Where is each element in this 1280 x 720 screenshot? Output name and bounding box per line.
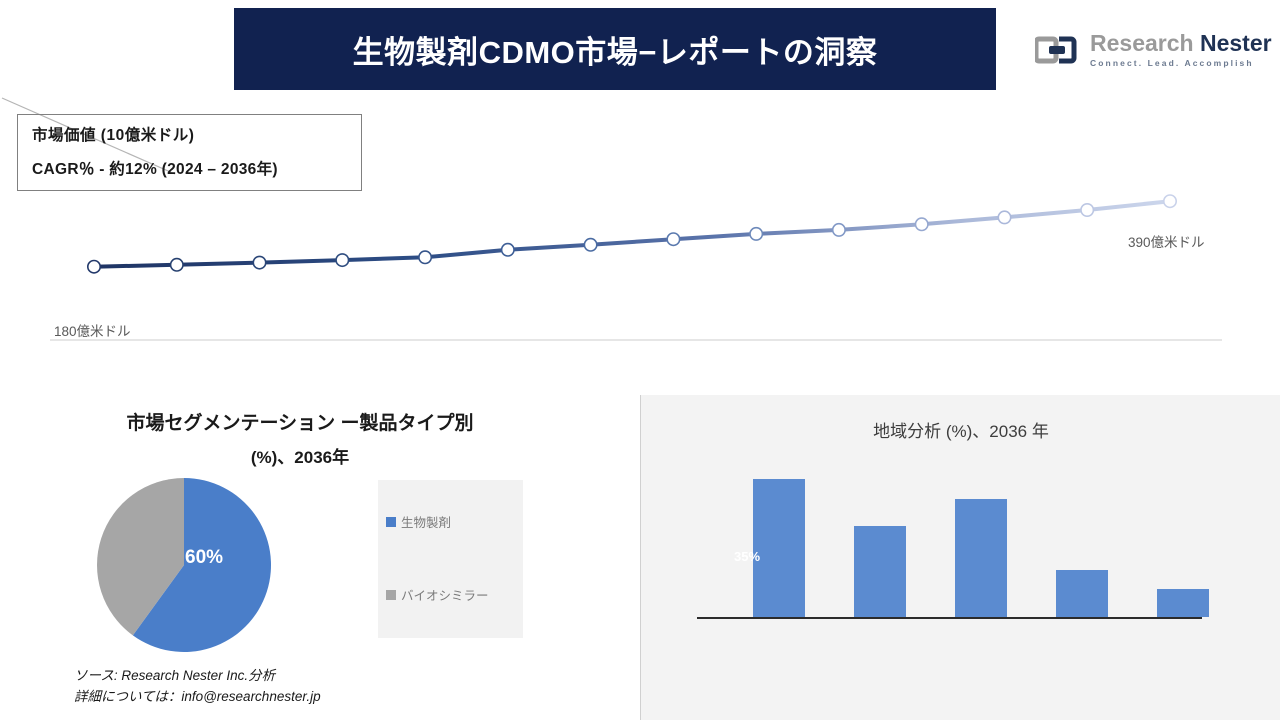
line-marker <box>750 228 762 240</box>
legend-swatch-biosimilars <box>386 590 396 600</box>
bar-value-label-north-america: 35% <box>734 549 760 564</box>
legend-item-biosimilars: バイオシミラー <box>386 585 489 604</box>
bar-chart-plot <box>697 467 1257 617</box>
line-marker <box>171 259 183 271</box>
bar-chart-title: 地域分析 (%)、2036 年 <box>641 417 1280 442</box>
bar-column <box>854 526 906 617</box>
bar-chart-baseline <box>697 617 1202 619</box>
source-note: ソース: Research Nester Inc.分析 詳細については：info… <box>74 666 321 708</box>
line-marker <box>833 224 845 236</box>
legend-swatch-biologics <box>386 517 396 527</box>
pie-title-line-1: 市場セグメンテーション ー製品タイプ別 <box>127 413 474 434</box>
pie-slice-value-label: 60% <box>185 547 223 569</box>
line-marker <box>667 233 679 245</box>
logo-text: Research Nester Connect. Lead. Accomplis… <box>1090 32 1272 68</box>
line-marker <box>253 256 265 268</box>
line-marker <box>1081 204 1093 216</box>
source-line-1: ソース: Research Nester Inc.分析 <box>74 666 321 687</box>
pie-chart-legend: 生物製剤 バイオシミラー <box>378 480 523 638</box>
bar-column <box>955 499 1007 617</box>
bar-column <box>1056 570 1108 617</box>
market-value-callout: 市場価値 (10億米ドル) CAGR％ - 約12% (2024 – 2036年… <box>17 114 362 191</box>
line-marker <box>1164 195 1176 207</box>
callout-line-2: CAGR％ - 約12% (2024 – 2036年) <box>32 157 349 179</box>
line-marker <box>336 254 348 266</box>
header-banner: 生物製剤CDMO市場−レポートの洞察 <box>234 8 996 90</box>
source-line-2: 詳細については：info@researchnester.jp <box>74 687 321 708</box>
logo-mark-icon <box>1035 32 1083 68</box>
bar-column <box>753 479 805 617</box>
pie-chart-title: 市場セグメンテーション ー製品タイプ別 (%)、2036年 <box>0 414 600 466</box>
page-title: 生物製剤CDMO市場−レポートの洞察 <box>353 27 878 72</box>
legend-label-biosimilars: バイオシミラー <box>401 585 489 604</box>
line-marker <box>584 239 596 251</box>
logo-name: Research Nester <box>1090 32 1272 55</box>
logo-name-research: Research <box>1090 30 1194 56</box>
bar-column <box>1157 589 1209 617</box>
legend-item-biologics: 生物製剤 <box>386 512 451 531</box>
brand-logo: Research Nester Connect. Lead. Accomplis… <box>1035 24 1257 76</box>
legend-label-biologics: 生物製剤 <box>401 512 451 531</box>
line-marker <box>998 211 1010 223</box>
line-marker <box>916 218 928 230</box>
bar-chart-x-axis: 北米ヨーロッパアジア太平洋地域ラテンアメリカ中東とアフリカ <box>640 622 1280 642</box>
logo-name-nester: Nester <box>1200 30 1272 56</box>
line-marker <box>419 251 431 263</box>
logo-tagline: Connect. Lead. Accomplish <box>1090 59 1272 68</box>
callout-line-1: 市場価値 (10億米ドル) <box>32 123 349 145</box>
line-marker <box>88 261 100 273</box>
pie-chart-svg <box>96 477 272 653</box>
pie-title-line-2: (%)、2036年 <box>0 449 600 466</box>
line-marker <box>502 244 514 256</box>
